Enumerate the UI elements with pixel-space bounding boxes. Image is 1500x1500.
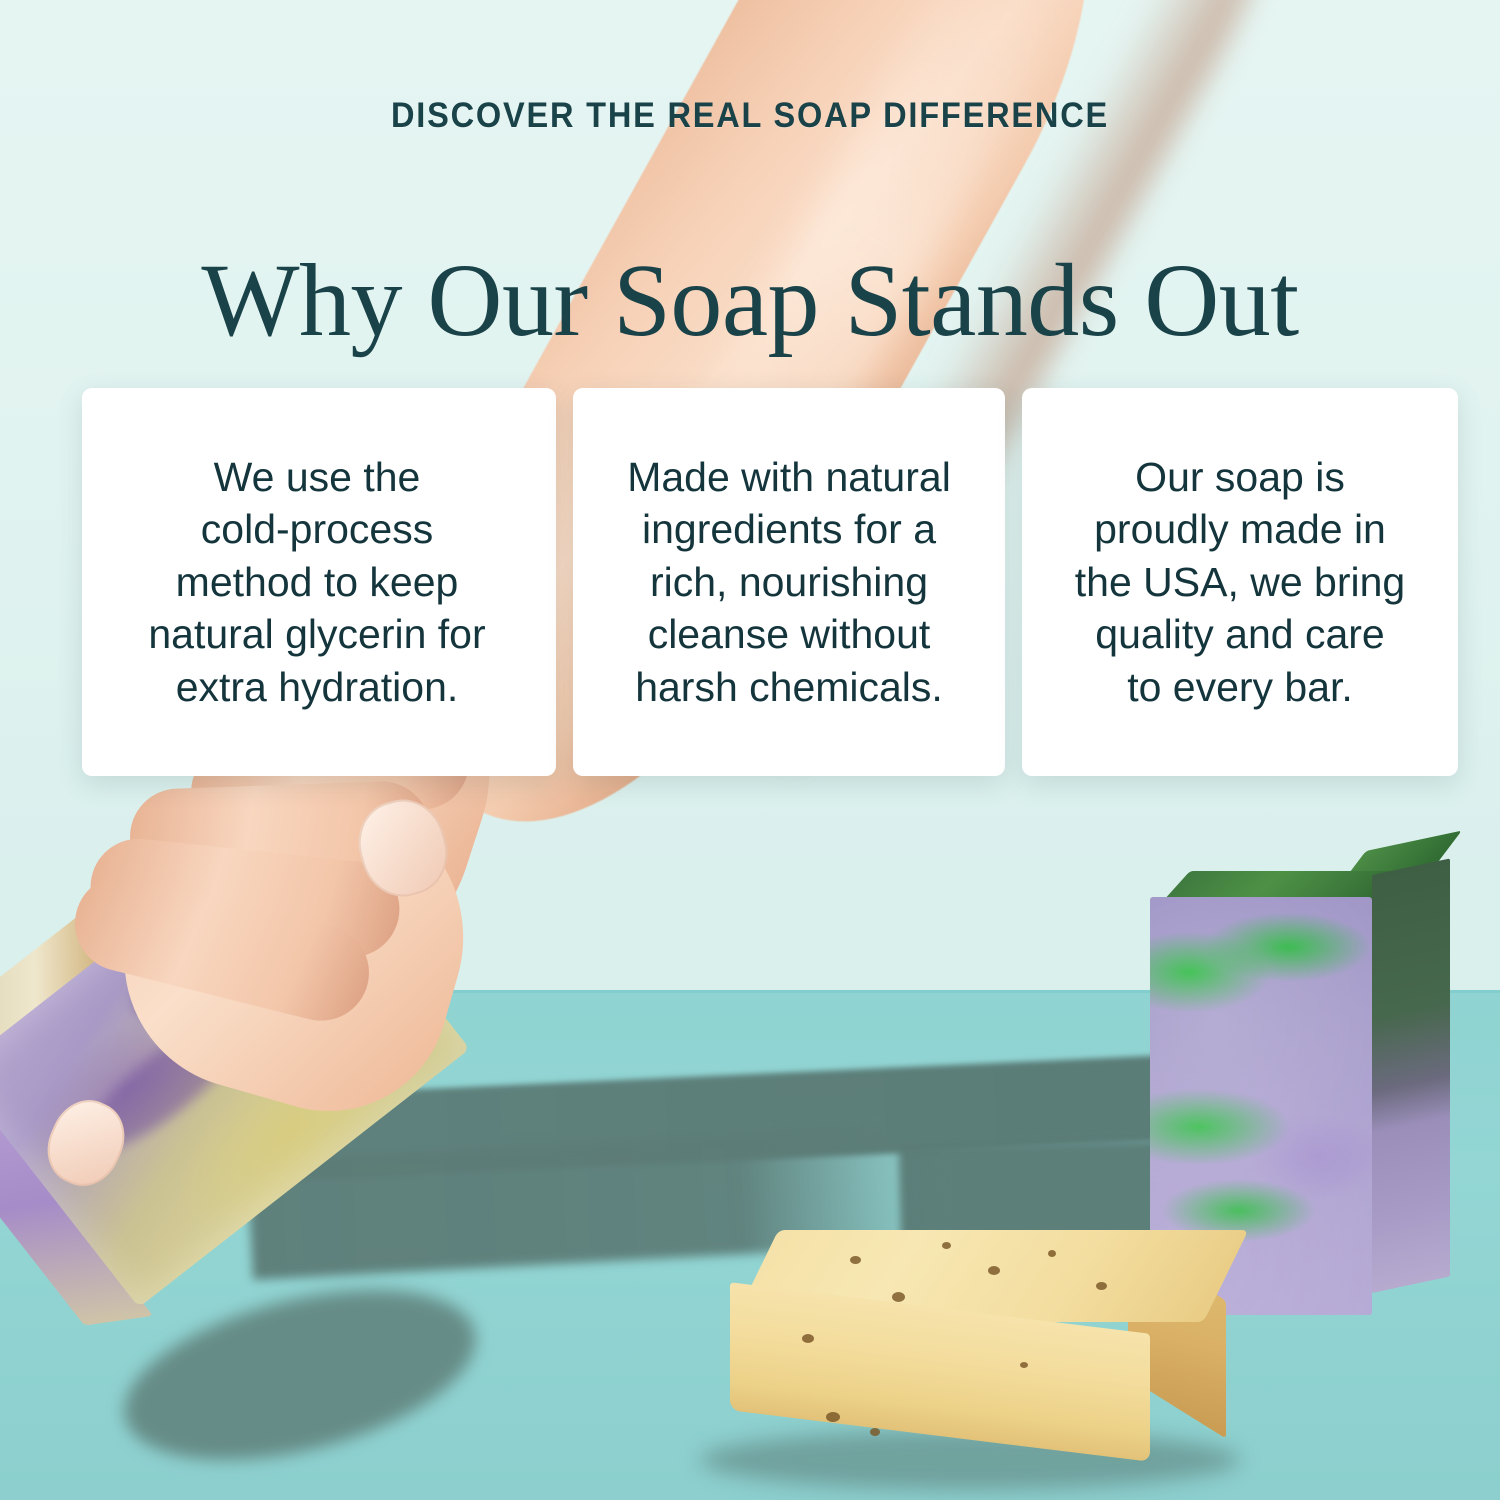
soap-fleck bbox=[942, 1242, 951, 1249]
benefit-card-cold-process: We use the cold-process method to keep n… bbox=[82, 388, 556, 776]
soap-fleck bbox=[826, 1412, 840, 1422]
soap-bar-yellow bbox=[730, 1230, 1240, 1450]
product-feature-graphic: DISCOVER THE REAL SOAP DIFFERENCE Why Ou… bbox=[0, 0, 1500, 1500]
soap-fleck bbox=[1048, 1250, 1056, 1257]
soap-fleck bbox=[802, 1334, 814, 1343]
soap-fleck bbox=[850, 1256, 861, 1264]
soap-fleck bbox=[1096, 1282, 1107, 1290]
soap-fleck bbox=[870, 1428, 880, 1436]
soap-fleck bbox=[988, 1266, 1000, 1275]
soap-fleck bbox=[892, 1292, 905, 1302]
benefit-card-text: We use the cold-process method to keep n… bbox=[82, 451, 552, 713]
benefit-card-text: Made with natural ingredients for a rich… bbox=[584, 451, 994, 713]
eyebrow-text: DISCOVER THE REAL SOAP DIFFERENCE bbox=[53, 96, 1448, 136]
soap-fleck bbox=[1020, 1362, 1028, 1368]
benefit-card-natural-ingredients: Made with natural ingredients for a rich… bbox=[573, 388, 1005, 776]
page-title: Why Our Soap Stands Out bbox=[0, 246, 1500, 355]
hand-holding-soap bbox=[0, 700, 580, 1460]
benefit-card-text: Our soap is proudly made in the USA, we … bbox=[1035, 451, 1445, 713]
soap-bar-green-side-face bbox=[1372, 858, 1450, 1293]
benefit-card-made-in-usa: Our soap is proudly made in the USA, we … bbox=[1022, 388, 1458, 776]
benefit-cards: We use the cold-process method to keep n… bbox=[82, 388, 1420, 776]
